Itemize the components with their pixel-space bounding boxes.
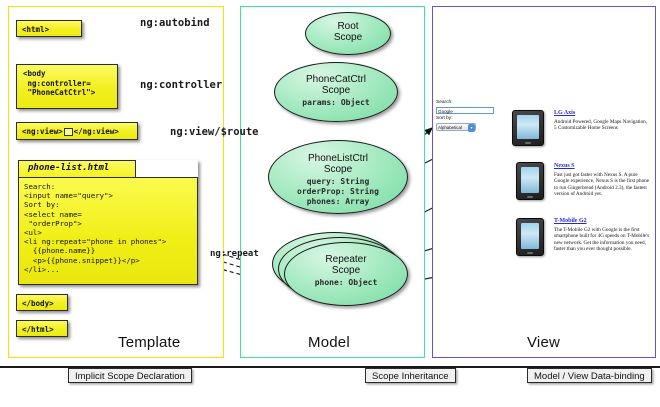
scope-phonecatctrl: PhoneCatCtrl Scope params: Object (274, 62, 398, 122)
code-tag-body-close: </body> (16, 294, 68, 311)
scope-phonecatctrl-props: params: Object (275, 98, 397, 108)
sort-by-select[interactable]: Alphabetical ▾ (436, 123, 476, 131)
panel-label-model: Model (308, 334, 350, 351)
code-tag-body-open: <body ng:controller= "PhoneCatCtrl"> (16, 64, 118, 109)
phone-listing-1: LG Axis Android Powered, Google Maps Nav… (554, 110, 650, 132)
scope-phonelistctrl: PhoneListCtrl Scope query: String orderP… (268, 140, 408, 214)
sort-by-label: Sort by: (436, 116, 498, 122)
edge-label-ng-view-route: ng:view/$route (170, 126, 259, 138)
scope-phonelistctrl-name: PhoneListCtrl Scope (269, 153, 407, 175)
code-tag-html-open: <html> (16, 20, 82, 37)
search-input[interactable]: Google (436, 107, 494, 114)
phone-thumbnail-3 (516, 218, 544, 256)
scope-root-name: Root Scope (306, 21, 390, 43)
edge-label-ng-controller: ng:controller (140, 79, 222, 91)
ngview-open-text: <ng:view> (22, 127, 63, 136)
phone-listing-link[interactable]: LG Axis (554, 110, 650, 116)
sort-by-value: Alphabetical (438, 125, 462, 130)
note-phone-list-html: phone-list.html Search: <input name="que… (18, 160, 198, 285)
panel-label-template: Template (118, 334, 180, 351)
phone-listing-link[interactable]: Nexus S (554, 163, 650, 169)
phone-thumbnail-2 (516, 162, 544, 200)
phone-screen (521, 223, 539, 249)
note-title: phone-list.html (28, 163, 109, 173)
chevron-down-icon: ▾ (468, 124, 475, 132)
legend: Implicit Scope Declaration Scope Inherit… (0, 366, 660, 407)
scope-root: Root Scope (305, 12, 391, 55)
scope-phonecatctrl-name: PhoneCatCtrl Scope (275, 74, 397, 96)
phone-home-button (525, 142, 531, 144)
phone-thumbnail-1 (512, 110, 544, 146)
phone-screen (521, 167, 539, 193)
scope-repeater-props: phone: Object (285, 278, 407, 288)
phone-listing-snippet: The T-Mobile G2 with Google is the first… (554, 227, 650, 253)
code-tag-html-close: </html> (16, 320, 68, 337)
diagram-canvas: Template Model View <html> <body ng:cont… (0, 0, 660, 405)
legend-item-implicit-scope-declaration: Implicit Scope Declaration (68, 368, 192, 383)
note-code-body: Search: <input name="query"> Sort by: <s… (18, 177, 198, 285)
ngview-close-text: </ng:view> (74, 127, 119, 136)
panel-label-view: View (527, 334, 560, 351)
search-label: Search: (436, 100, 498, 106)
phone-listing-snippet: Fast just got faster with Nexus S. A pur… (554, 172, 650, 198)
phone-home-button (527, 196, 533, 198)
edge-label-ng-repeat: ng:repeat (210, 249, 259, 259)
edge-label-ng-autobind: ng:autobind (140, 17, 210, 29)
scope-repeater: Repeater Scope phone: Object (284, 242, 408, 306)
scope-phonelistctrl-props: query: String orderProp: String phones: … (269, 177, 407, 207)
code-tag-ngview: <ng:view></ng:view> (16, 122, 138, 140)
scope-repeater-stack: Repeater Scope phone: Object (272, 232, 408, 306)
ngview-placeholder-icon (64, 128, 73, 136)
phone-home-button (527, 252, 533, 254)
phone-listing-2: Nexus S Fast just got faster with Nexus … (554, 163, 650, 198)
view-search-form: Search: Google Sort by: Alphabetical ▾ (436, 100, 498, 142)
scope-repeater-name: Repeater Scope (285, 254, 407, 276)
legend-item-model-view-data-binding: Model / View Data-binding (527, 368, 652, 383)
phone-listing-3: T-Mobile G2 The T-Mobile G2 with Google … (554, 218, 650, 253)
phone-screen (517, 115, 539, 139)
phone-listing-snippet: Android Powered, Google Maps Navigation,… (554, 119, 650, 132)
phone-listing-link[interactable]: T-Mobile G2 (554, 218, 650, 224)
legend-item-scope-inheritance: Scope Inheritance (365, 368, 456, 383)
